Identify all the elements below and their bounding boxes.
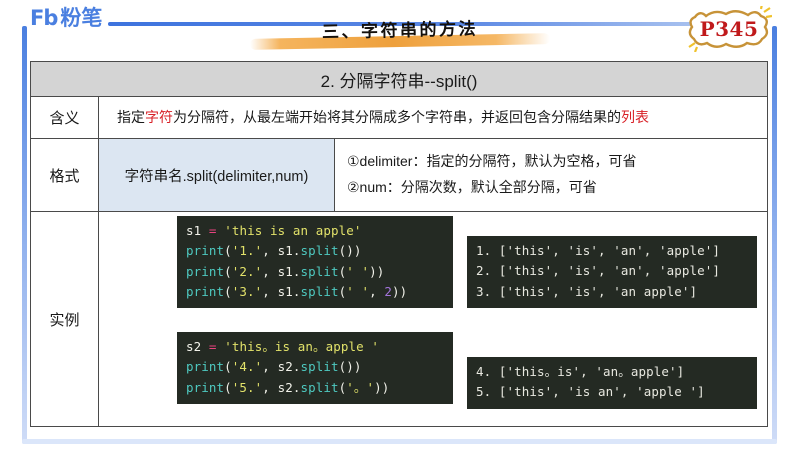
row-label-example: 实例 bbox=[31, 212, 99, 427]
code1-str1: 'this is an apple' bbox=[224, 223, 361, 238]
code2-fn3: print bbox=[186, 380, 224, 395]
code2-method2: split bbox=[300, 359, 338, 374]
code2-str1: 'this。is an。apple ' bbox=[224, 339, 379, 354]
code1-fn2: print bbox=[186, 243, 224, 258]
section-banner: 三、字符串的方法 bbox=[240, 16, 560, 50]
frame-border-right bbox=[772, 26, 777, 444]
code1-arg4: '3.' bbox=[232, 284, 263, 299]
code2-method3: split bbox=[300, 380, 338, 395]
code1-method4: split bbox=[300, 284, 338, 299]
code1-obj3: s1 bbox=[278, 264, 293, 279]
table-row-example: 实例 s1 = 'this is an apple' print('1.', s… bbox=[31, 212, 768, 427]
brand-logo: Fb 粉笔 bbox=[30, 8, 102, 29]
slide-canvas: Fb 粉笔 三、字符串的方法 P345 2. 分隔字符串--split() 含义… bbox=[0, 0, 800, 450]
output1-line1: 1. ['this', 'is', 'an', 'apple'] bbox=[476, 243, 720, 258]
fenbi-logo-icon: Fb bbox=[30, 8, 57, 29]
code1-arg3: '2.' bbox=[232, 264, 263, 279]
meaning-cell: 指定字符为分隔符，从最左端开始将其分隔成多个字符串，并返回包含分隔结果的列表 bbox=[99, 97, 768, 139]
meaning-highlight-1: 字符 bbox=[145, 109, 173, 125]
code2-fn2: print bbox=[186, 359, 224, 374]
code1-obj2: s1 bbox=[278, 243, 293, 258]
output2-line2: 5. ['this', 'is an', 'apple '] bbox=[476, 384, 705, 399]
page-number-badge: P345 bbox=[686, 6, 772, 52]
code2-obj2: s2 bbox=[278, 359, 293, 374]
table-row-meaning: 含义 指定字符为分隔符，从最左端开始将其分隔成多个字符串，并返回包含分隔结果的列… bbox=[31, 97, 768, 139]
code2-arg2: '4.' bbox=[232, 359, 263, 374]
code1-fn3: print bbox=[186, 264, 224, 279]
code-block-2: s2 = 'this。is an。apple ' print('4.', s2.… bbox=[177, 332, 453, 404]
meaning-text-part1: 指定 bbox=[117, 109, 145, 125]
code1-num4: 2 bbox=[384, 284, 392, 299]
content-table: 2. 分隔字符串--split() 含义 指定字符为分隔符，从最左端开始将其分隔… bbox=[30, 61, 768, 427]
syntax-cell: 字符串名.split(delimiter,num) bbox=[99, 139, 335, 212]
meaning-text-part2: 为分隔符，从最左端开始将其分隔成多个字符串，并返回包含分隔结果的 bbox=[173, 109, 621, 125]
brand-name: 粉笔 bbox=[60, 8, 102, 29]
format-notes: ①delimiter：指定的分隔符，默认为空格，可省 ②num：分隔次数，默认全… bbox=[335, 144, 767, 206]
frame-border-left bbox=[22, 26, 27, 444]
code1-op1: = bbox=[209, 223, 217, 238]
row-label-meaning: 含义 bbox=[31, 97, 99, 139]
meaning-highlight-2: 列表 bbox=[621, 109, 649, 125]
example-cell: s1 = 'this is an apple' print('1.', s1.s… bbox=[99, 212, 768, 427]
table-row-title: 2. 分隔字符串--split() bbox=[31, 62, 768, 97]
code1-obj4: s1 bbox=[278, 284, 293, 299]
format-notes-cell: ①delimiter：指定的分隔符，默认为空格，可省 ②num：分隔次数，默认全… bbox=[335, 139, 768, 212]
table-row-format: 格式 字符串名.split(delimiter,num) ①delimiter：… bbox=[31, 139, 768, 212]
format-note-1: ①delimiter：指定的分隔符，默认为空格，可省 bbox=[347, 149, 767, 175]
code2-args3: '。' bbox=[346, 380, 374, 395]
code1-method2: split bbox=[300, 243, 338, 258]
page-number-text: P345 bbox=[686, 6, 772, 52]
code2-var1: s2 bbox=[186, 339, 201, 354]
code-block-1: s1 = 'this is an apple' print('1.', s1.s… bbox=[177, 216, 453, 308]
code1-args4: ' ' bbox=[346, 284, 369, 299]
output1-line2: 2. ['this', 'is', 'an', 'apple'] bbox=[476, 263, 720, 278]
frame-border-bottom bbox=[22, 439, 777, 444]
example-body: s1 = 'this is an apple' print('1.', s1.s… bbox=[99, 212, 767, 426]
code1-var1: s1 bbox=[186, 223, 201, 238]
code2-op1: = bbox=[209, 339, 217, 354]
code2-arg3: '5.' bbox=[232, 380, 263, 395]
format-note-2: ②num：分隔次数，默认全部分隔，可省 bbox=[347, 175, 767, 201]
output2-line1: 4. ['this。is', 'an。apple'] bbox=[476, 364, 684, 379]
table-title-cell: 2. 分隔字符串--split() bbox=[31, 62, 768, 97]
row-label-format: 格式 bbox=[31, 139, 99, 212]
output-block-2: 4. ['this。is', 'an。apple'] 5. ['this', '… bbox=[467, 357, 757, 409]
code1-method3: split bbox=[300, 264, 338, 279]
code2-obj3: s2 bbox=[278, 380, 293, 395]
code1-arg2: '1.' bbox=[232, 243, 263, 258]
output-block-1: 1. ['this', 'is', 'an', 'apple'] 2. ['th… bbox=[467, 236, 757, 308]
meaning-text: 指定字符为分隔符，从最左端开始将其分隔成多个字符串，并返回包含分隔结果的列表 bbox=[99, 108, 767, 128]
code1-args3: ' ' bbox=[346, 264, 369, 279]
code1-fn4: print bbox=[186, 284, 224, 299]
output1-line3: 3. ['this', 'is', 'an apple'] bbox=[476, 284, 697, 299]
